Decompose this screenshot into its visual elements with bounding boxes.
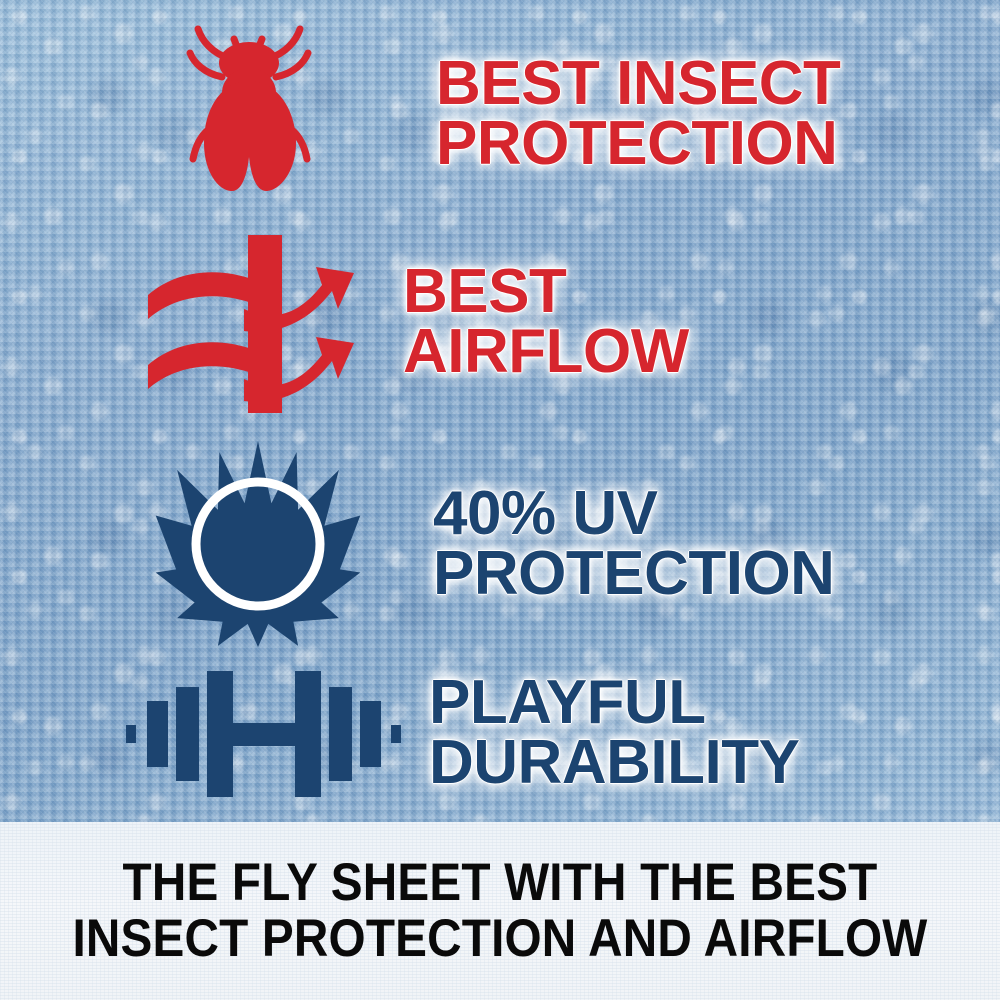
feature-label-uv-protection: 40% UV PROTECTION bbox=[433, 484, 834, 603]
dumbbell-icon bbox=[120, 663, 405, 803]
sun-icon-slot bbox=[150, 442, 365, 647]
caption-text: THE FLY SHEET WITH THE BEST INSECT PROTE… bbox=[73, 855, 928, 967]
feature-row-airflow: BEST AIRFLOW bbox=[140, 222, 980, 422]
fly-icon bbox=[160, 19, 340, 209]
feature-row-insect-protection: BEST INSECT PROTECTION bbox=[160, 14, 980, 214]
airflow-icon-slot bbox=[140, 227, 365, 417]
airflow-arrows-icon bbox=[140, 227, 365, 417]
feature-row-uv-protection: 40% UV PROTECTION bbox=[150, 438, 980, 650]
caption-band: THE FLY SHEET WITH THE BEST INSECT PROTE… bbox=[0, 822, 1000, 1000]
feature-label-durability: PLAYFUL DURABILITY bbox=[429, 673, 799, 792]
feature-label-insect-protection: BEST INSECT PROTECTION bbox=[436, 54, 840, 173]
feature-row-durability: PLAYFUL DURABILITY bbox=[120, 650, 980, 815]
fly-icon-slot bbox=[160, 19, 340, 209]
feature-label-airflow: BEST AIRFLOW bbox=[403, 262, 689, 381]
dumbbell-icon-slot bbox=[120, 663, 405, 803]
product-feature-infographic: BEST INSECT PROTECTION BEST AIRFLOW bbox=[0, 0, 1000, 1000]
sun-uv-icon bbox=[153, 439, 363, 649]
